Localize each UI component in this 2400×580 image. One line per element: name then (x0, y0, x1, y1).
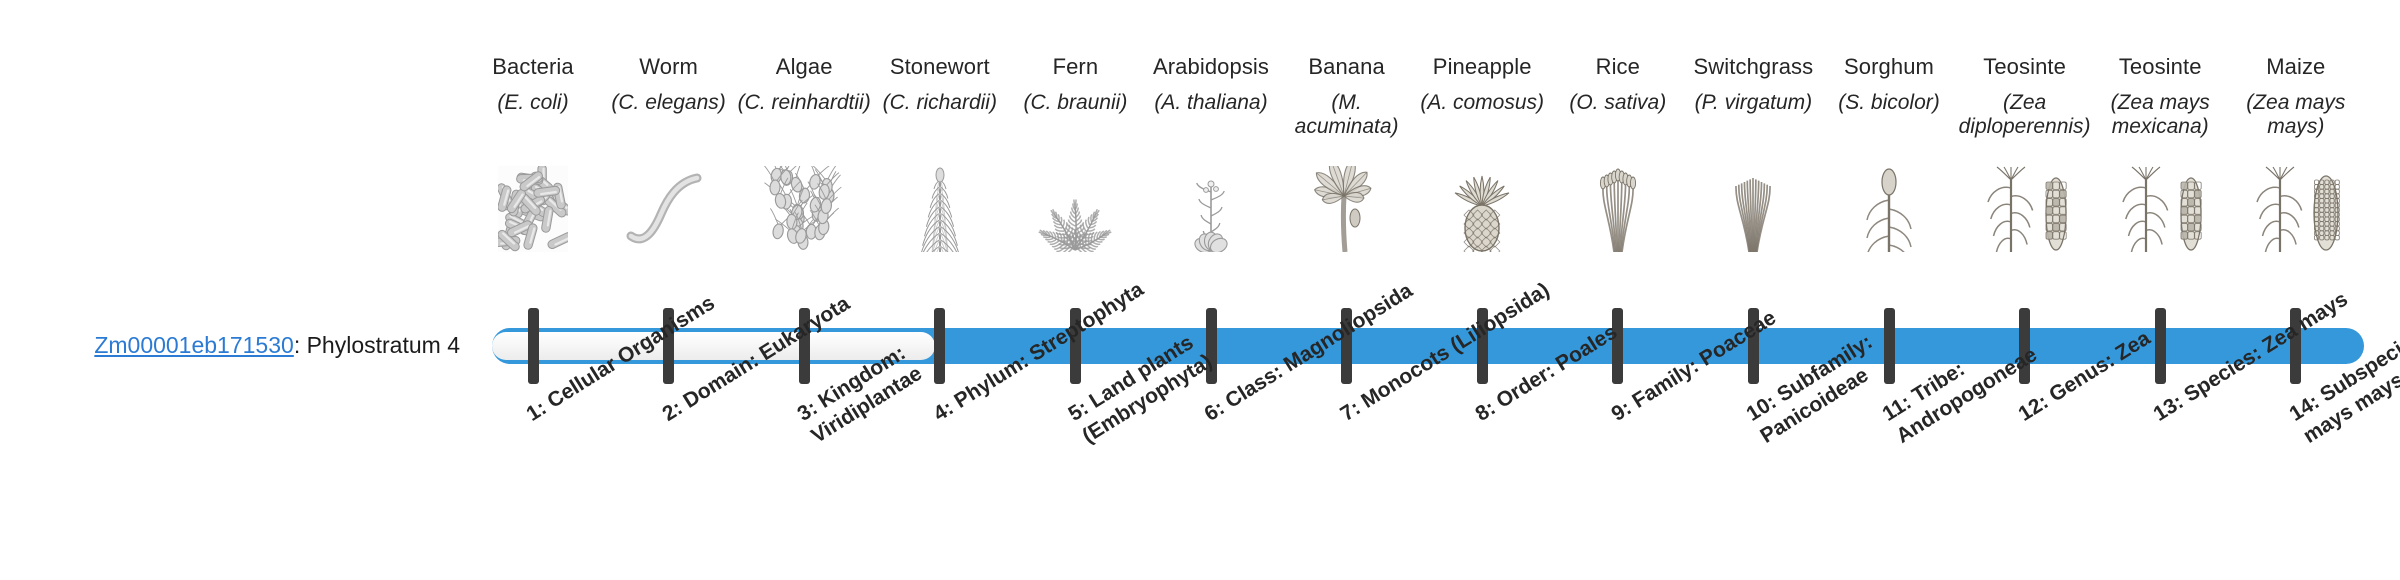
species-scientific-name: (A. thaliana) (1143, 91, 1279, 115)
banana-illustration (1277, 162, 1417, 252)
species-common-name: Pineapple (1414, 55, 1550, 80)
species-common-name: Rice (1550, 55, 1686, 80)
species-column-algae-3: Algae(C. reinhardtii) (736, 55, 872, 115)
species-column-switchgrass-10: Switchgrass(P. virgatum) (1685, 55, 1821, 115)
species-scientific-name: (E. coli) (465, 91, 601, 115)
species-common-name: Arabidopsis (1143, 55, 1279, 80)
species-scientific-name: (S. bicolor) (1821, 91, 1957, 115)
species-scientific-name: (A. comosus) (1414, 91, 1550, 115)
rice-illustration (1548, 162, 1688, 252)
gene-id-link[interactable]: Zm00001eb171530 (94, 332, 294, 358)
phylostratum-slider-figure: Zm00001eb171530: Phylostratum 4 Bacteria… (0, 0, 2400, 580)
sorghum-illustration (1819, 162, 1959, 252)
species-common-name: Sorghum (1821, 55, 1957, 80)
species-common-name: Worm (601, 55, 737, 80)
species-common-name: Teosinte (2092, 55, 2228, 80)
gene-phylostratum-label: Zm00001eb171530: Phylostratum 4 (40, 332, 460, 359)
teosinte-mexicana-illustration (2090, 162, 2230, 252)
species-scientific-name: (Zea diploperennis) (1957, 91, 2093, 139)
fern-illustration (1005, 162, 1145, 252)
arabidopsis-illustration (1141, 162, 1281, 252)
species-column-fern-5: Fern(C. braunii) (1007, 55, 1143, 115)
phylostratum-tick-1 (528, 308, 539, 384)
species-common-name: Teosinte (1957, 55, 2093, 80)
gene-label-separator: : (294, 332, 307, 358)
switchgrass-illustration (1683, 162, 1823, 252)
species-column-rice-9: Rice(O. sativa) (1550, 55, 1686, 115)
species-column-teosinte-13: Teosinte(Zea mays mexicana) (2092, 55, 2228, 139)
species-scientific-name: (C. richardii) (872, 91, 1008, 115)
species-scientific-name: (Zea mays mays) (2228, 91, 2364, 139)
species-scientific-name: (O. sativa) (1550, 91, 1686, 115)
species-common-name: Fern (1007, 55, 1143, 80)
species-column-maize-14: Maize(Zea mays mays) (2228, 55, 2364, 139)
species-column-banana-7: Banana(M. acuminata) (1279, 55, 1415, 139)
phylostratum-slider-unfilled (492, 332, 935, 360)
species-scientific-name: (Zea mays mexicana) (2092, 91, 2228, 139)
species-column-stonewort-4: Stonewort(C. richardii) (872, 55, 1008, 115)
species-scientific-name: (P. virgatum) (1685, 91, 1821, 115)
bacteria-illustration (463, 162, 603, 252)
species-scientific-name: (C. reinhardtii) (736, 91, 872, 115)
stonewort-illustration (870, 162, 1010, 252)
species-column-arabidopsis-6: Arabidopsis(A. thaliana) (1143, 55, 1279, 115)
species-column-teosinte-12: Teosinte(Zea diploperennis) (1957, 55, 2093, 139)
species-common-name: Bacteria (465, 55, 601, 80)
species-common-name: Algae (736, 55, 872, 80)
species-common-name: Switchgrass (1685, 55, 1821, 80)
species-column-worm-2: Worm(C. elegans) (601, 55, 737, 115)
species-common-name: Banana (1279, 55, 1415, 80)
species-column-bacteria-1: Bacteria(E. coli) (465, 55, 601, 115)
maize-illustration (2226, 162, 2366, 252)
algae-illustration (734, 162, 874, 252)
species-column-sorghum-11: Sorghum(S. bicolor) (1821, 55, 1957, 115)
species-common-name: Stonewort (872, 55, 1008, 80)
species-scientific-name: (C. braunii) (1007, 91, 1143, 115)
teosinte-diploperennis-illustration (1955, 162, 2095, 252)
species-scientific-name: (C. elegans) (601, 91, 737, 115)
phylostratum-value-label: Phylostratum 4 (307, 332, 460, 358)
pineapple-illustration (1412, 162, 1552, 252)
species-column-pineapple-8: Pineapple(A. comosus) (1414, 55, 1550, 115)
species-scientific-name: (M. acuminata) (1279, 91, 1415, 139)
species-common-name: Maize (2228, 55, 2364, 80)
worm-illustration (599, 162, 739, 252)
